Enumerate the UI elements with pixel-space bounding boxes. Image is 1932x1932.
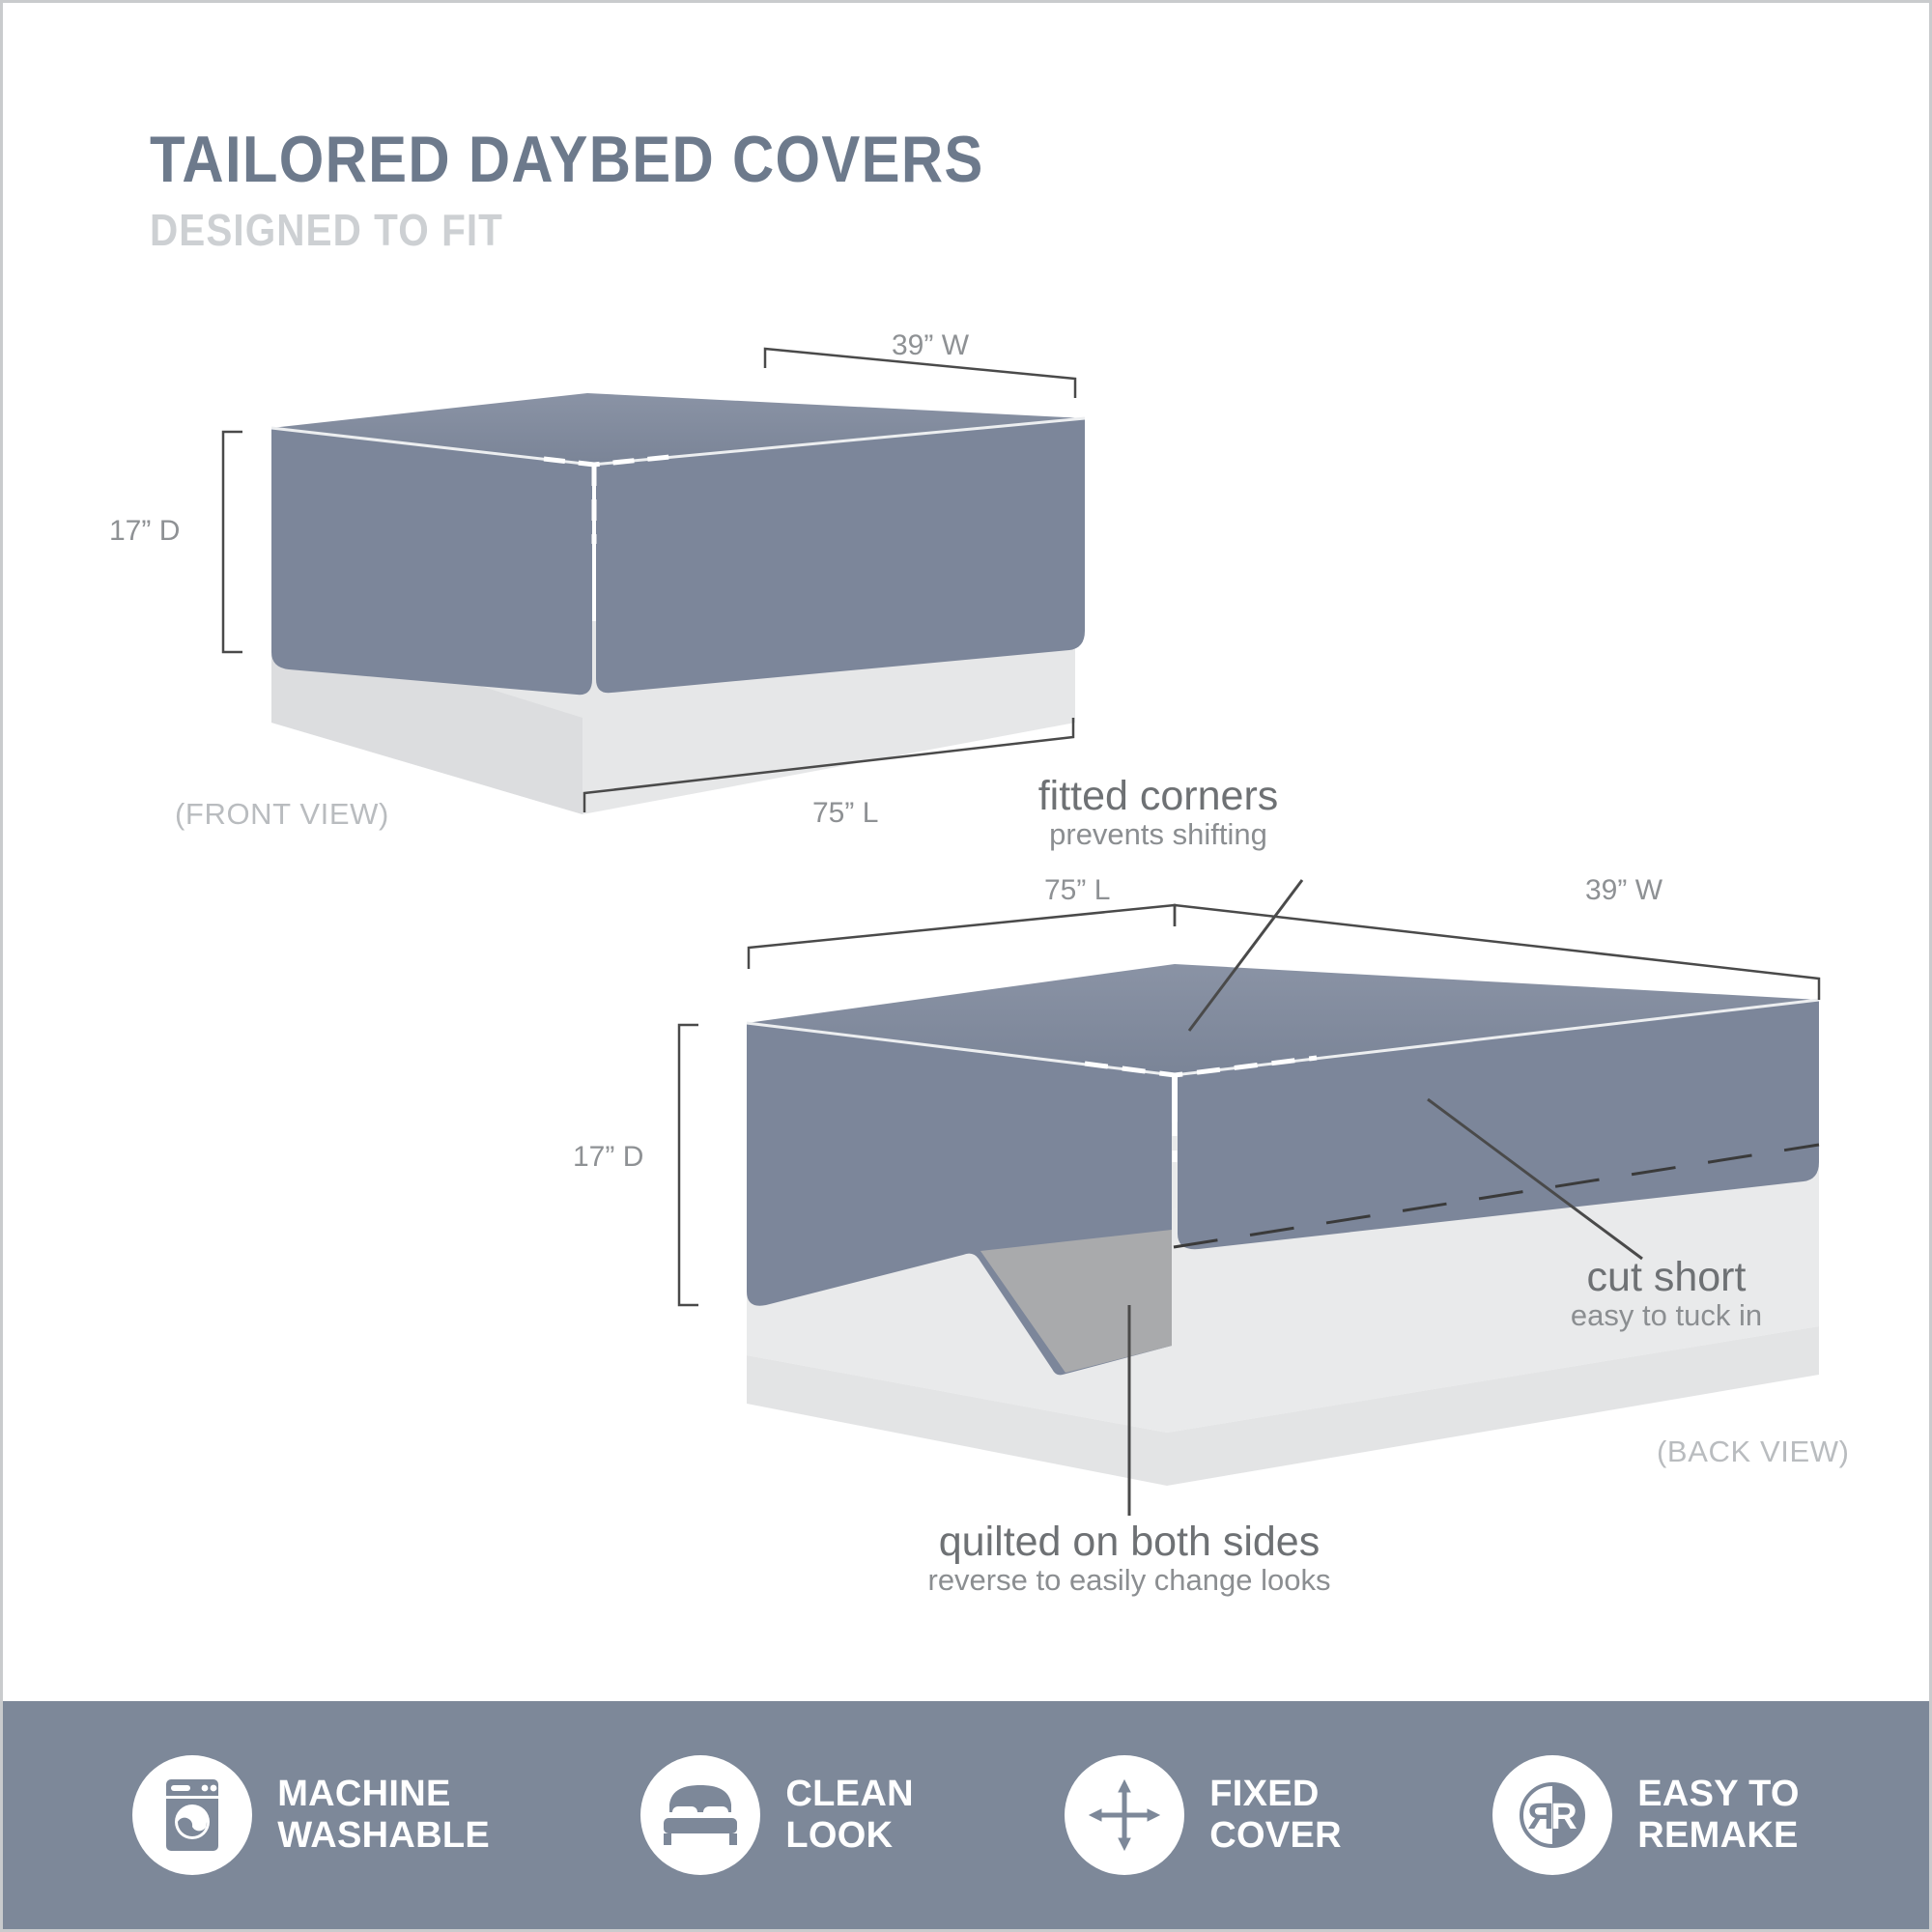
back-dim-width-label: 39” W bbox=[1585, 874, 1662, 907]
front-cover-right-panel bbox=[596, 418, 1085, 693]
page-subtitle: DESIGNED TO FIT bbox=[150, 208, 984, 252]
front-bed-base bbox=[271, 621, 1075, 814]
feature-bar: MACHINE WASHABLE CLEAN LOOK bbox=[3, 1701, 1929, 1929]
infographic-page: TAILORED DAYBED COVERS DESIGNED TO FIT bbox=[0, 0, 1932, 1932]
front-bed-base-front bbox=[271, 621, 582, 814]
front-dim-width-label: 39” W bbox=[892, 329, 969, 362]
bed-icon bbox=[640, 1755, 760, 1875]
callout-cut-short-sub: easy to tuck in bbox=[1571, 1299, 1762, 1333]
feature-clean-look-label: CLEAN LOOK bbox=[785, 1774, 913, 1858]
back-cut-short-dashed-hemline bbox=[1174, 1145, 1819, 1247]
back-cover-long-panel bbox=[747, 1023, 1172, 1375]
callout-quilted-both-sides: quilted on both sides reverse to easily … bbox=[927, 1521, 1330, 1598]
feature-fixed-cover: FIXED COVER bbox=[1065, 1755, 1342, 1875]
back-cover-corner-flap-underside bbox=[980, 1230, 1172, 1373]
callout-quilted-sub: reverse to easily change looks bbox=[927, 1564, 1330, 1598]
back-cover-top-face bbox=[747, 964, 1819, 1075]
feature-easy-to-remake: R R EASY TO REMAKE bbox=[1492, 1755, 1800, 1875]
back-dim-length-label: 75” L bbox=[1044, 874, 1110, 907]
back-bed-base-top bbox=[747, 1027, 1819, 1210]
front-cover-top-face bbox=[271, 393, 1085, 465]
front-view-label: (FRONT VIEW) bbox=[175, 797, 389, 832]
callout-cut-short-main: cut short bbox=[1571, 1257, 1762, 1299]
front-dim-depth-bracket bbox=[223, 432, 242, 652]
page-header: TAILORED DAYBED COVERS DESIGNED TO FIT bbox=[150, 127, 1097, 252]
back-view-label: (BACK VIEW) bbox=[1657, 1435, 1850, 1469]
front-dim-length-label: 75” L bbox=[812, 797, 878, 830]
washing-machine-icon bbox=[132, 1755, 252, 1875]
feature-machine-washable: MACHINE WASHABLE bbox=[132, 1755, 490, 1875]
page-title: TAILORED DAYBED COVERS bbox=[150, 127, 984, 192]
front-cover-seam-highlight bbox=[271, 418, 1085, 465]
back-dim-width-bracket bbox=[1175, 905, 1819, 1000]
back-dim-length-bracket bbox=[749, 905, 1175, 969]
back-cover-seam-highlight bbox=[747, 1000, 1819, 1075]
back-fitted-corner-dash-horizontal bbox=[1085, 1058, 1317, 1075]
callout-fitted-corners-main: fitted corners bbox=[1038, 776, 1279, 818]
front-view-illustration bbox=[223, 349, 1085, 814]
callout-fitted-corners: fitted corners prevents shifting bbox=[1038, 776, 1279, 852]
back-view-illustration bbox=[679, 880, 1819, 1516]
feature-machine-washable-label: MACHINE WASHABLE bbox=[277, 1774, 490, 1858]
leader-cut-short bbox=[1428, 1099, 1642, 1259]
callout-cut-short: cut short easy to tuck in bbox=[1571, 1257, 1762, 1333]
back-dim-depth-label: 17” D bbox=[573, 1141, 643, 1174]
leader-fitted-corners bbox=[1189, 880, 1302, 1031]
diagram-illustrations bbox=[3, 3, 1932, 1932]
back-dim-depth-bracket bbox=[679, 1025, 698, 1305]
front-dim-depth-label: 17” D bbox=[109, 515, 180, 548]
front-cover-left-panel bbox=[271, 428, 592, 695]
feature-easy-to-remake-label: EASY TO REMAKE bbox=[1637, 1774, 1800, 1858]
svg-text:R: R bbox=[1551, 1797, 1577, 1837]
feature-clean-look: CLEAN LOOK bbox=[640, 1755, 913, 1875]
feature-fixed-cover-label: FIXED COVER bbox=[1209, 1774, 1342, 1858]
reversible-r-icon: R R bbox=[1492, 1755, 1612, 1875]
front-fitted-corner-dash-horizontal bbox=[544, 457, 669, 465]
four-arrows-icon bbox=[1065, 1755, 1184, 1875]
callout-quilted-main: quilted on both sides bbox=[927, 1521, 1330, 1564]
back-bed-base-front bbox=[747, 1148, 1167, 1433]
callout-fitted-corners-sub: prevents shifting bbox=[1038, 818, 1279, 852]
back-cover-width-panel bbox=[1178, 1000, 1819, 1249]
